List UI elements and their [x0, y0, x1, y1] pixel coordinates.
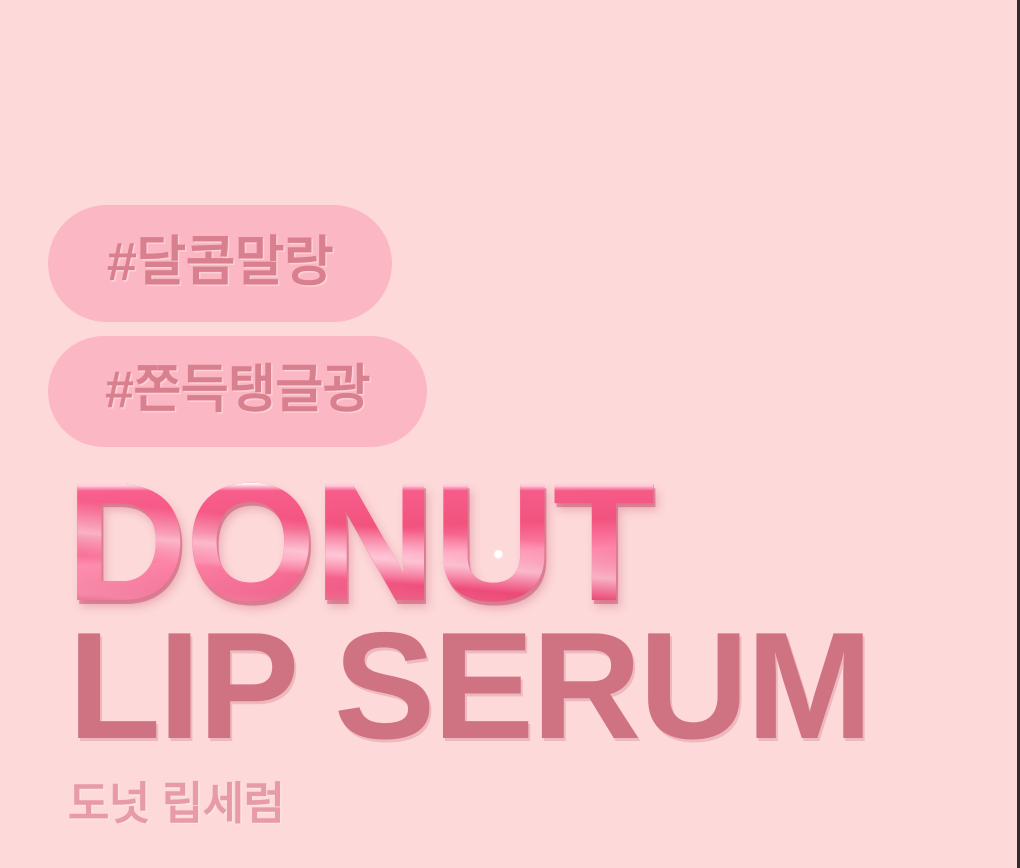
- headline-donut-specular-layer: DONUT: [66, 462, 653, 622]
- headline-line-donut: DONUT DONUT DONUT DONUT: [66, 462, 766, 622]
- hashtag-pill-sweet-soft[interactable]: #달콤말랑: [48, 205, 392, 322]
- hashtag-pill-label: #달콤말랑: [107, 235, 333, 292]
- hashtag-pill-label: #쫀득탱글광: [105, 364, 370, 419]
- headline-line-lip-serum: LIP SERUM: [68, 610, 870, 762]
- product-subtitle-korean: 도넛 립세럼: [68, 779, 285, 829]
- product-banner: #달콤말랑 #쫀득탱글광 DONUT DONUT DONUT DONUT LIP…: [0, 0, 1020, 868]
- hashtag-pill-chewy-glow[interactable]: #쫀득탱글광: [48, 336, 427, 447]
- headline-donut-sparkle-dot: [494, 550, 503, 559]
